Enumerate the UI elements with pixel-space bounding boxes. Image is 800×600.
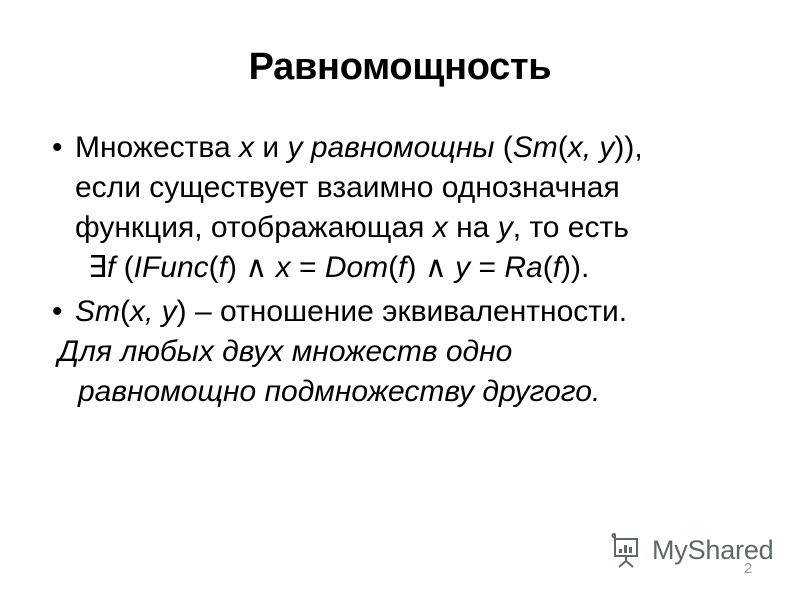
closing-line-1: Для любых двух множеств одно: [58, 335, 512, 368]
b1l1-term-ravnomoshchny: равномощны: [311, 131, 495, 164]
closing-line-2: равномощно подмножеству другого.: [58, 372, 770, 412]
b1l3-text3: , то есть: [513, 211, 629, 244]
b2-t1: (: [120, 295, 130, 328]
watermark-label: MyShared: [652, 537, 773, 564]
b1l3-text2: на: [448, 211, 498, 244]
presentation-chart-board-icon: [606, 530, 646, 570]
b2-predicate-sm: Sm: [75, 295, 120, 328]
formula-ra: Ra: [504, 251, 542, 284]
bullet-item-definition: • Множества x и y равномощны (Sm(x, y)),…: [40, 128, 770, 288]
formula-t2: (: [209, 251, 219, 284]
b1l3-var-x: x: [433, 211, 448, 244]
bullet1-formula: ∃f (IFunc(f) ∧ x = Dom(f) ∧ y = Ra(f)).: [75, 248, 770, 288]
page-title: Равномощность: [0, 48, 800, 88]
formula-t3: ) ∧: [227, 251, 276, 284]
formula-exists-f: ∃f: [88, 251, 115, 284]
bullet1-line3: функция, отображающая x на y, то есть: [75, 208, 770, 248]
b1l1-text5: (: [558, 131, 568, 164]
bullet1-line1: Множества x и y равномощны (Sm(x, y)),: [75, 128, 770, 168]
formula-dom: Dom: [325, 251, 388, 284]
formula-var-x: x: [276, 251, 291, 284]
closing-paragraph: Для любых двух множеств одно равномощно …: [40, 332, 770, 412]
slide-canvas: Равномощность • Множества x и y равномощ…: [0, 0, 800, 600]
formula-t5: (: [388, 251, 398, 284]
b1l3-text1: функция, отображающая: [75, 211, 433, 244]
formula-t9: )).: [561, 251, 589, 284]
formula-f3: f: [553, 251, 561, 284]
slide-body: • Множества x и y равномощны (Sm(x, y)),…: [40, 128, 770, 412]
b1l1-text1: Множества: [75, 131, 239, 164]
formula-t8: (: [543, 251, 553, 284]
b1l1-var-y: y: [287, 131, 302, 164]
bullet-dot-icon: •: [52, 292, 63, 332]
bullet1-line2: если существует взаимно однозначная: [75, 168, 770, 208]
page-number: 2: [744, 560, 752, 577]
formula-ifunc: IFunc: [134, 251, 209, 284]
b1l1-text6: )),: [614, 131, 642, 164]
bullet-dot-icon: •: [52, 128, 63, 168]
b1l1-space: [302, 131, 310, 164]
b1l1-args-xy: x, y: [568, 131, 615, 164]
bullet2-line1: Sm(x, y) – отношение эквивалентности.: [75, 292, 770, 332]
formula-var-y: y: [455, 251, 470, 284]
bullet-item-equivalence: • Sm(x, y) – отношение эквивалентности.: [40, 292, 770, 332]
formula-f1: f: [219, 251, 227, 284]
b1l3-var-y: y: [498, 211, 513, 244]
b1l1-predicate-sm: Sm: [513, 131, 558, 164]
formula-t6: ) ∧: [407, 251, 456, 284]
b1l1-var-x: x: [239, 131, 254, 164]
formula-t4: =: [291, 251, 325, 284]
b2-args-xy: x, y: [130, 295, 177, 328]
b2-t2: ) – отношение эквивалентности.: [177, 295, 627, 328]
b1l1-text4: (: [494, 131, 512, 164]
formula-f2: f: [398, 251, 406, 284]
formula-t1: (: [115, 251, 133, 284]
b1l1-text2: и: [254, 131, 287, 164]
formula-t7: =: [470, 251, 504, 284]
